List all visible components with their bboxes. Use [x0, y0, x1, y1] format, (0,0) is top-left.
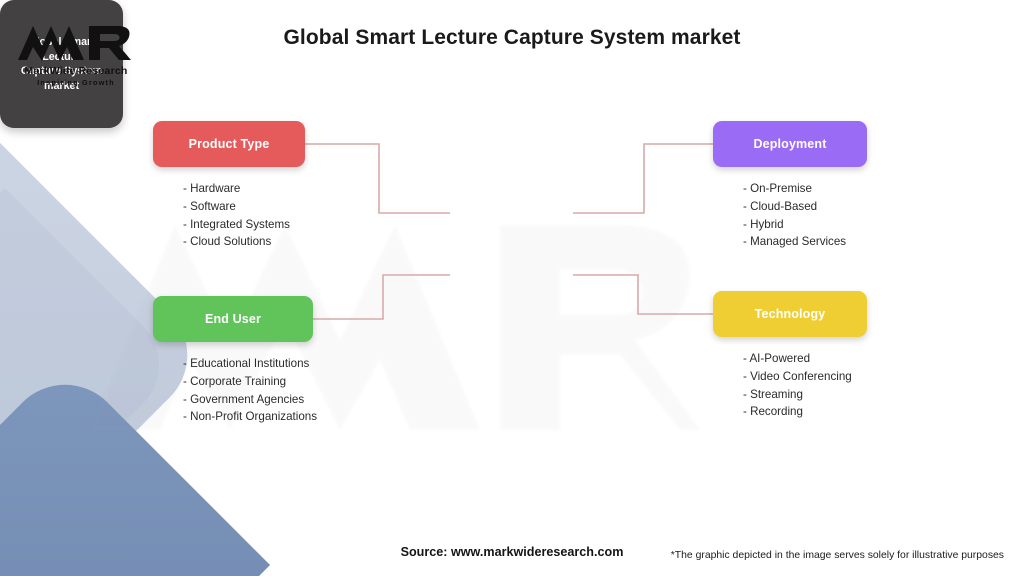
mwr-logo-icon: [16, 22, 132, 64]
list-item: - Integrated Systems: [183, 216, 305, 234]
list-item: - Hybrid: [743, 216, 867, 234]
branch-deployment-header[interactable]: Deployment: [713, 121, 867, 167]
list-item: - Hardware: [183, 180, 305, 198]
list-item: - Corporate Training: [183, 373, 317, 391]
branch-technology-label: Technology: [755, 307, 826, 321]
branch-technology-header[interactable]: Technology: [713, 291, 867, 337]
connector-product-type: [305, 144, 450, 213]
connector-lines: [0, 0, 1024, 576]
branch-product-type: Product Type - Hardware - Software - Int…: [153, 121, 305, 251]
list-item: - Non-Profit Organizations: [183, 408, 317, 426]
branch-end-user-label: End User: [205, 312, 261, 326]
list-item: - On-Premise: [743, 180, 867, 198]
branch-end-user: End User - Educational Institutions - Co…: [153, 296, 317, 426]
list-item: - Government Agencies: [183, 391, 317, 409]
branch-deployment-label: Deployment: [753, 137, 826, 151]
list-item: - Software: [183, 198, 305, 216]
branch-deployment: Deployment - On-Premise - Cloud-Based - …: [713, 121, 867, 251]
list-item: - Educational Institutions: [183, 355, 317, 373]
list-item: - Streaming: [743, 386, 867, 404]
connector-end-user: [313, 275, 450, 319]
list-item: - Cloud-Based: [743, 198, 867, 216]
connector-technology: [573, 275, 713, 314]
branch-deployment-list: - On-Premise - Cloud-Based - Hybrid - Ma…: [713, 180, 867, 251]
brand-name: MarkWide Research: [16, 65, 136, 77]
list-item: - Cloud Solutions: [183, 233, 305, 251]
list-item: - Video Conferencing: [743, 368, 867, 386]
disclaimer-text: *The graphic depicted in the image serve…: [671, 550, 1004, 561]
branch-technology-list: - AI-Powered - Video Conferencing - Stre…: [713, 350, 867, 421]
list-item: - AI-Powered: [743, 350, 867, 368]
branch-technology: Technology - AI-Powered - Video Conferen…: [713, 291, 867, 421]
list-item: - Managed Services: [743, 233, 867, 251]
connector-deployment: [573, 144, 713, 213]
infographic-canvas: MarkWide Research Inspiring Growth Globa…: [0, 0, 1024, 576]
branch-product-type-label: Product Type: [189, 137, 270, 151]
page-title: Global Smart Lecture Capture System mark…: [0, 26, 1024, 50]
branch-end-user-list: - Educational Institutions - Corporate T…: [153, 355, 317, 426]
brand-logo: MarkWide Research Inspiring Growth: [16, 22, 136, 87]
branch-product-type-list: - Hardware - Software - Integrated Syste…: [153, 180, 305, 251]
list-item: - Recording: [743, 403, 867, 421]
branch-end-user-header[interactable]: End User: [153, 296, 313, 342]
branch-product-type-header[interactable]: Product Type: [153, 121, 305, 167]
brand-tagline: Inspiring Growth: [16, 78, 136, 87]
